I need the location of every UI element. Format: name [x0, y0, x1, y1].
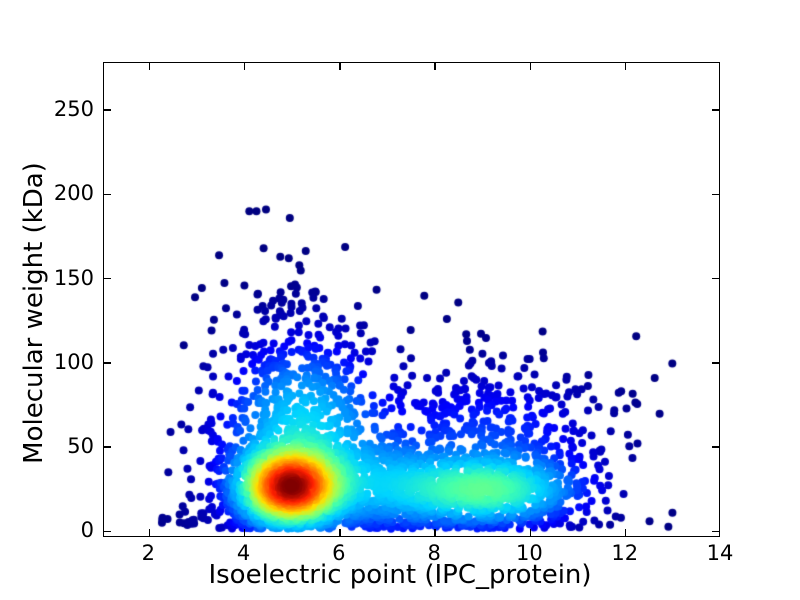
y-tick-mark — [104, 194, 111, 195]
y-tick-mark — [104, 446, 111, 447]
x-tick-mark — [434, 63, 435, 70]
plot-area — [103, 62, 720, 537]
y-tick-mark — [104, 362, 111, 363]
y-tick-mark — [712, 362, 719, 363]
y-tick-label: 0 — [40, 518, 94, 542]
scatter-points-layer — [104, 63, 720, 537]
scatter-plot-figure: 2468101214 050100150200250 Isoelectric p… — [0, 0, 800, 600]
y-tick-mark — [712, 278, 719, 279]
x-axis-title: Isoelectric point (IPC_protein) — [0, 560, 800, 590]
x-tick-mark — [625, 529, 626, 536]
x-tick-mark — [434, 529, 435, 536]
x-tick-mark — [339, 63, 340, 70]
x-tick-mark — [244, 63, 245, 70]
y-tick-mark — [712, 446, 719, 447]
y-tick-mark — [712, 531, 719, 532]
x-tick-mark — [149, 63, 150, 70]
y-tick-mark — [104, 531, 111, 532]
x-tick-mark — [530, 63, 531, 70]
y-axis-title: Molecular weight (kDa) — [19, 113, 49, 513]
x-tick-mark — [625, 63, 626, 70]
x-tick-mark — [530, 529, 531, 536]
x-tick-mark — [149, 529, 150, 536]
x-tick-mark — [339, 529, 340, 536]
y-tick-mark — [104, 278, 111, 279]
y-tick-mark — [712, 109, 719, 110]
y-tick-mark — [712, 194, 719, 195]
x-tick-mark — [244, 529, 245, 536]
y-tick-mark — [104, 109, 111, 110]
